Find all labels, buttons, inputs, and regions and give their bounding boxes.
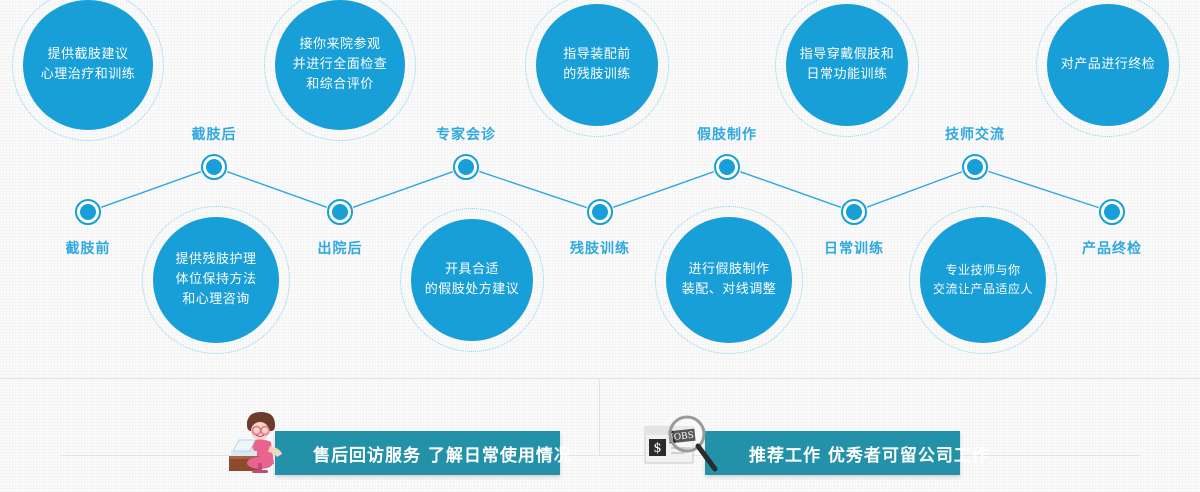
bubble-hospital-visit[interactable]: 接你来院参观并进行全面检查和综合评价 — [275, 0, 405, 130]
flow-node-label-6: 假肢制作 — [697, 124, 757, 144]
bubble-pre-fitting-training-line-2: 的残肢训练 — [563, 65, 631, 85]
bubble-wearing-guidance-line-2: 日常功能训练 — [806, 65, 887, 85]
bubble-hospital-visit-line-1: 接你来院参观 — [299, 35, 380, 55]
flow-node-5[interactable] — [587, 199, 613, 225]
flow-node-label-2: 截肢后 — [192, 124, 237, 144]
bubble-hospital-visit-line-2: 并进行全面检查 — [293, 55, 388, 75]
flow-node-label-5: 残肢训练 — [570, 238, 630, 258]
bubble-pre-fitting-training-line-1: 指导装配前 — [563, 45, 631, 65]
bubble-final-inspection-line-1: 对产品进行终检 — [1061, 55, 1156, 75]
bubble-wearing-guidance[interactable]: 指导穿戴假肢和日常功能训练 — [786, 4, 908, 126]
banner-job-recommendation[interactable]: $JOBS推荐工作 优秀者可留公司工作 — [705, 431, 960, 475]
bubble-stump-care-line-1: 提供残肢护理 — [175, 250, 256, 270]
bubble-prosthesis-assembly-line-2: 装配、对线调整 — [682, 280, 777, 300]
jobs-magnifier-icon-wrapper: $JOBS — [643, 413, 719, 477]
flow-node-8[interactable] — [962, 154, 988, 180]
bubble-prescription[interactable]: 开具合适的假肢处方建议 — [411, 219, 533, 341]
flow-node-label-1: 截肢前 — [66, 238, 111, 258]
bubble-wearing-guidance-line-1: 指导穿戴假肢和 — [800, 45, 895, 65]
bubble-prosthesis-assembly[interactable]: 进行假肢制作装配、对线调整 — [666, 217, 792, 343]
flow-node-2[interactable] — [201, 154, 227, 180]
bubble-final-inspection[interactable]: 对产品进行终检 — [1047, 4, 1169, 126]
flow-node-4[interactable] — [453, 154, 479, 180]
flow-node-label-4: 专家会诊 — [436, 124, 496, 144]
bubble-pre-fitting-training[interactable]: 指导装配前的残肢训练 — [536, 4, 658, 126]
bubble-technician-exchange[interactable]: 专业技师与你交流让产品适应人 — [920, 217, 1046, 343]
bubble-prescription-line-1: 开具合适 — [445, 260, 499, 280]
bubble-prosthesis-assembly-line-1: 进行假肢制作 — [688, 260, 769, 280]
service-flow-diagram: 提供截肢建议心理治疗和训练提供残肢护理体位保持方法和心理咨询接你来院参观并进行全… — [0, 0, 1200, 378]
flow-node-label-9: 产品终检 — [1082, 238, 1142, 258]
bubble-technician-exchange-line-1: 专业技师与你 — [945, 261, 1020, 280]
flow-node-9[interactable] — [1099, 199, 1125, 225]
section-divider — [0, 378, 1200, 379]
jobs-magnifier-icon: $JOBS — [643, 413, 719, 473]
bubble-hospital-visit-line-3: 和综合评价 — [306, 75, 374, 95]
flow-node-label-3: 出院后 — [318, 238, 363, 258]
flow-node-3[interactable] — [327, 199, 353, 225]
bubble-stump-care-line-2: 体位保持方法 — [175, 270, 256, 290]
banner-after-sales[interactable]: 售后回访服务 了解日常使用情况 — [275, 431, 560, 475]
flow-node-label-8: 技师交流 — [945, 124, 1005, 144]
svg-text:$: $ — [653, 441, 661, 456]
banner-after-sales-text: 售后回访服务 了解日常使用情况 — [313, 441, 572, 466]
woman-at-desk-icon — [227, 411, 287, 473]
flow-node-6[interactable] — [714, 154, 740, 180]
vertical-connector — [599, 378, 600, 455]
bubble-amputation-advice-line-2: 心理治疗和训练 — [41, 65, 136, 85]
bubble-amputation-advice-line-1: 提供截肢建议 — [47, 45, 128, 65]
bubble-stump-care-line-3: 和心理咨询 — [182, 290, 250, 310]
flow-node-7[interactable] — [841, 199, 867, 225]
bubble-stump-care[interactable]: 提供残肢护理体位保持方法和心理咨询 — [153, 217, 279, 343]
flow-node-1[interactable] — [75, 199, 101, 225]
woman-at-desk-icon-wrapper — [227, 411, 287, 477]
bubble-amputation-advice[interactable]: 提供截肢建议心理治疗和训练 — [23, 0, 153, 130]
flow-node-label-7: 日常训练 — [824, 238, 884, 258]
prosthetics-service-flow-infographic: 提供截肢建议心理治疗和训练提供残肢护理体位保持方法和心理咨询接你来院参观并进行全… — [0, 0, 1200, 492]
bubble-prescription-line-2: 的假肢处方建议 — [425, 280, 520, 300]
banner-job-recommendation-text: 推荐工作 优秀者可留公司工作 — [749, 441, 990, 466]
bubble-technician-exchange-line-2: 交流让产品适应人 — [933, 280, 1033, 299]
